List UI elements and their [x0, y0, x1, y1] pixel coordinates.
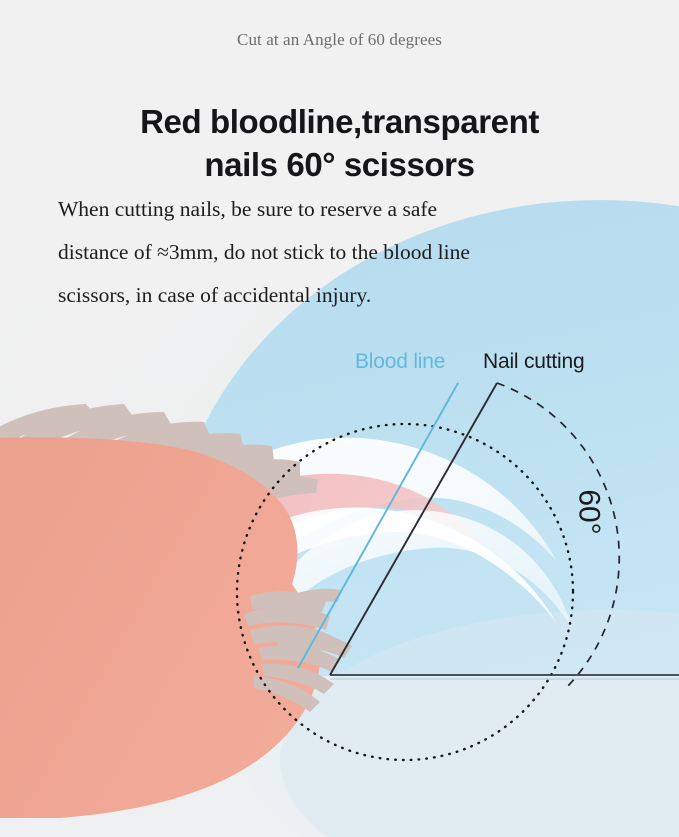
infographic-page: Cut at an Angle of 60 degrees Red bloodl…	[0, 0, 679, 837]
diagram-illustration	[0, 0, 679, 837]
